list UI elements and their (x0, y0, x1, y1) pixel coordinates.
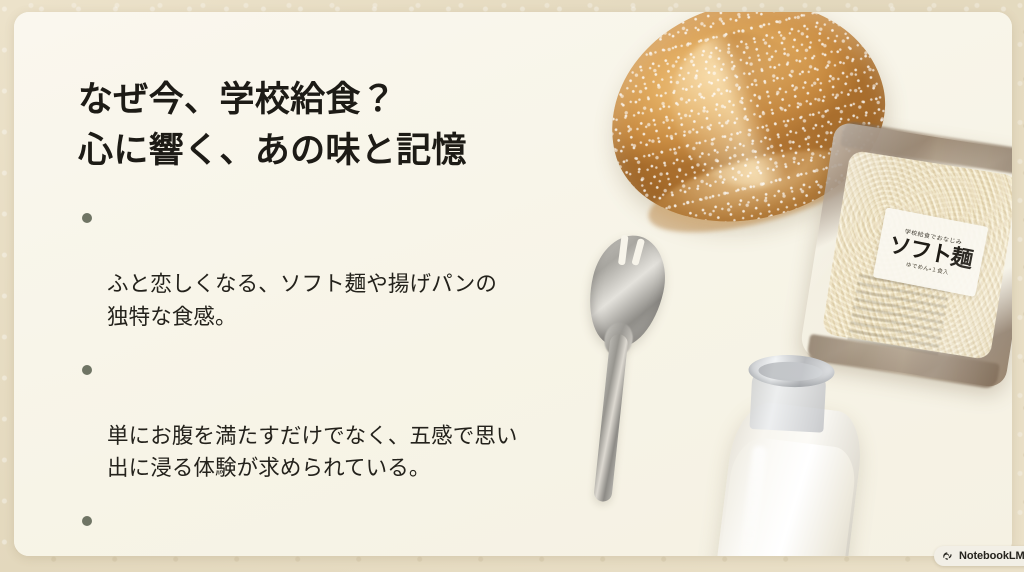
slide-card: 学校給食でおなじみ ソフト麺 ゆでめん・１食入 (14, 12, 1012, 556)
bullet-text-2: 単にお腹を満たすだけでなく、五感で思い 出に浸る体験が求められている。 (107, 424, 518, 481)
bullet-dot-icon (82, 516, 92, 526)
bullet-item-2: 単にお腹を満たすだけでなく、五感で思い 出に浸る体験が求められている。 (78, 354, 548, 486)
bullet-item-3: 東北には、廃校を活用したカフェから大 人向けの健康給食まで、多様な形で思い 出を… (78, 505, 548, 556)
bullet-list: ふと恋しくなる、ソフト麺や揚げパンの 独特な食感。 単にお腹を満たすだけでなく、… (78, 202, 548, 556)
notebooklm-watermark-label: NotebookLM (959, 551, 1024, 562)
slide-root: 学校給食でおなじみ ソフト麺 ゆでめん・１食入 (0, 0, 1024, 572)
bullet-item-1: ふと恋しくなる、ソフト麺や揚げパンの 独特な食感。 (78, 202, 548, 334)
notebooklm-logo-icon (941, 550, 954, 563)
slide-title: なぜ今、学校給食？ 心に響く、あの味と記憶 (78, 74, 548, 176)
bullet-text-1: ふと恋しくなる、ソフト麺や揚げパンの 独特な食感。 (107, 272, 497, 329)
text-column: なぜ今、学校給食？ 心に響く、あの味と記憶 ふと恋しくなる、ソフト麺や揚げパンの… (78, 74, 548, 556)
bullet-dot-icon (82, 365, 92, 375)
notebooklm-watermark: NotebookLM (934, 546, 1024, 566)
bullet-dot-icon (82, 213, 92, 223)
